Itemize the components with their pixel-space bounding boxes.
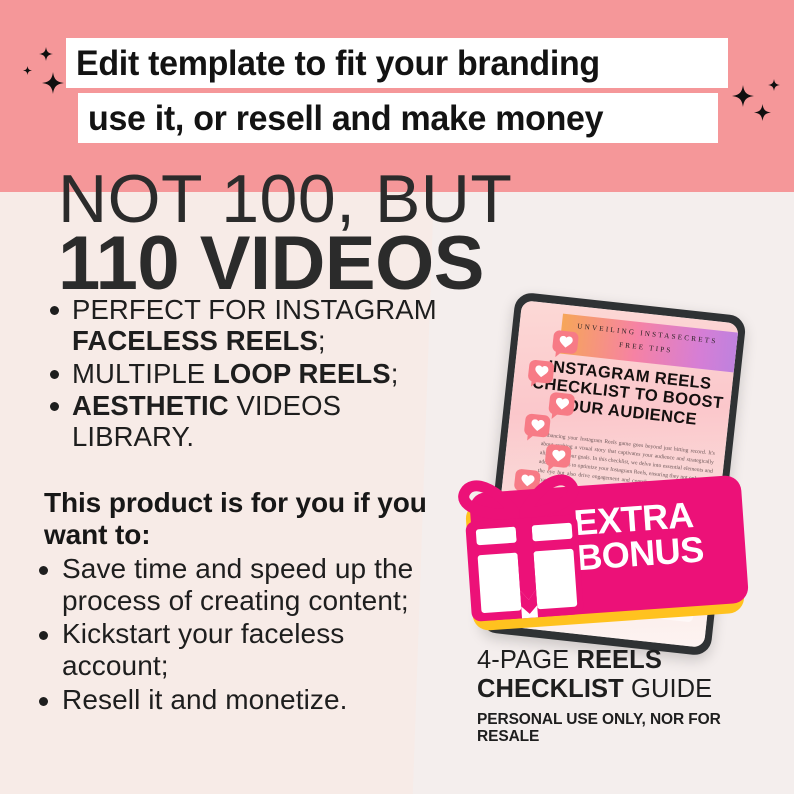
feature-list: PERFECT FOR INSTAGRAM FACELESS REELS; MU… [44, 294, 464, 454]
gift-box-icon [450, 461, 601, 630]
page-title: NOT 100, BUT 110 VIDEOS [58, 168, 512, 300]
feature-bold-2: AESTHETIC [72, 390, 229, 421]
list-item: PERFECT FOR INSTAGRAM FACELESS REELS; [44, 294, 464, 357]
caption-bold-reels: REELS [576, 646, 662, 674]
list-item: AESTHETIC VIDEOS LIBRARY. [44, 390, 464, 453]
feature-bold-0: FACELESS REELS [72, 325, 318, 356]
feature-bold-1: LOOP REELS [213, 358, 391, 389]
feature-pre-1: MULTIPLE [72, 358, 213, 389]
heart-like-icon [552, 330, 579, 355]
benefits-list: Save time and speed up the process of cr… [32, 553, 452, 717]
heart-like-icon [528, 359, 555, 384]
list-item: Resell it and monetize. [32, 684, 452, 716]
feature-pre-0: PERFECT FOR INSTAGRAM [72, 294, 437, 325]
header-highlight-line1: Edit template to fit your branding [66, 38, 728, 88]
sparkle-icon [23, 66, 32, 75]
caption-bold-checklist: CHECKLIST [477, 675, 624, 703]
header-highlight-line2: use it, or resell and make money [78, 93, 718, 143]
heart-like-icon [524, 413, 551, 438]
sparkle-icon [754, 104, 771, 121]
caption-main: 4-PAGE REELS CHECKLIST GUIDE [477, 646, 777, 704]
sparkle-icon [39, 47, 53, 61]
badge-text: EXTRA BONUS [573, 494, 757, 576]
list-item: MULTIPLE LOOP REELS; [44, 358, 464, 389]
caption-pre: 4-PAGE [477, 646, 576, 674]
feature-post-1: ; [391, 358, 399, 389]
poster-canvas: Edit template to fit your branding use i… [0, 0, 794, 794]
product-caption: 4-PAGE REELS CHECKLIST GUIDE PERSONAL US… [477, 646, 777, 746]
header-text-line2: use it, or resell and make money [88, 101, 603, 136]
extra-bonus-badge: EXTRA BONUS [455, 466, 755, 641]
sparkle-icon [42, 72, 64, 94]
heart-like-icon [548, 392, 575, 417]
list-item: Kickstart your faceless account; [32, 618, 452, 681]
list-item: Save time and speed up the process of cr… [32, 553, 452, 616]
caption-note: PERSONAL USE ONLY, NOR FOR RESALE [477, 711, 777, 746]
header-text-line1: Edit template to fit your branding [76, 46, 600, 81]
benefits-subhead: This product is for you if you want to: [44, 487, 444, 551]
sparkle-icon [768, 79, 780, 91]
sparkle-icon [732, 85, 754, 107]
feature-post-0: ; [318, 325, 326, 356]
headline-line2: 110 VIDEOS [58, 229, 512, 300]
caption-post: GUIDE [624, 675, 712, 703]
